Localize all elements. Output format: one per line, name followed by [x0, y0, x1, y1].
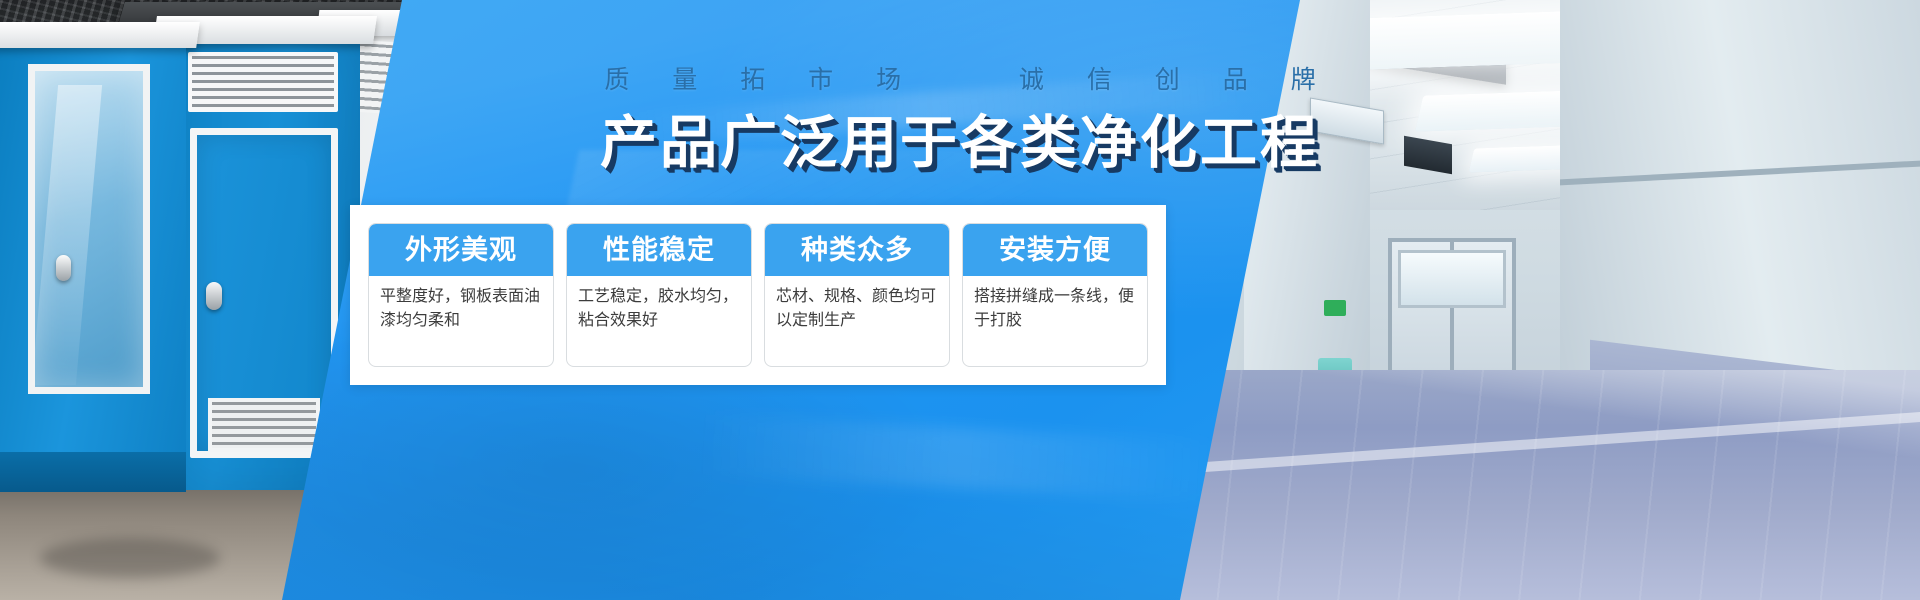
feature-card-1-title: 外形美观: [369, 224, 553, 276]
banner-subtitle: 质 量 拓 市 场 诚 信 创 品 牌: [0, 62, 1920, 100]
feature-card-2-text: 工艺稳定，胶水均匀，粘合效果好: [567, 276, 751, 366]
headline-block: 质 量 拓 市 场 诚 信 创 品 牌 产品广泛用于各类净化工程: [0, 62, 1920, 177]
promo-banner: 质 量 拓 市 场 诚 信 创 品 牌 产品广泛用于各类净化工程 外形美观 平整…: [0, 0, 1920, 600]
floor-gloss-reflection: [1120, 370, 1920, 600]
feature-card-3-title: 种类众多: [765, 224, 949, 276]
feature-card-3[interactable]: 种类众多 芯材、规格、颜色均可以定制生产: [764, 223, 950, 367]
feature-card-1[interactable]: 外形美观 平整度好，钢板表面油漆均匀柔和: [368, 223, 554, 367]
far-door-window: [1398, 250, 1506, 308]
feature-card-2[interactable]: 性能稳定 工艺稳定，胶水均匀，粘合效果好: [566, 223, 752, 367]
panel-light-streak: [699, 414, 1221, 501]
blue-cabin-first-roof: [0, 22, 200, 48]
feature-cards-strip: 外形美观 平整度好，钢板表面油漆均匀柔和 性能稳定 工艺稳定，胶水均匀，粘合效果…: [350, 205, 1166, 385]
door-louver-vent: [208, 398, 320, 452]
blue-cabin-first-base: [0, 452, 186, 492]
feature-card-2-title: 性能稳定: [567, 224, 751, 276]
exit-sign-icon: [1324, 300, 1346, 316]
banner-headline: 产品广泛用于各类净化工程: [0, 110, 1920, 177]
door-handle-icon: [206, 282, 222, 310]
feature-card-1-text: 平整度好，钢板表面油漆均匀柔和: [369, 276, 553, 366]
feature-card-4-text: 搭接拼缝成一条线，便于打胶: [963, 276, 1147, 366]
door-handle-icon: [56, 255, 71, 281]
feature-card-4[interactable]: 安装方便 搭接拼缝成一条线，便于打胶: [962, 223, 1148, 367]
feature-card-3-text: 芯材、规格、颜色均可以定制生产: [765, 276, 949, 366]
feature-card-4-title: 安装方便: [963, 224, 1147, 276]
